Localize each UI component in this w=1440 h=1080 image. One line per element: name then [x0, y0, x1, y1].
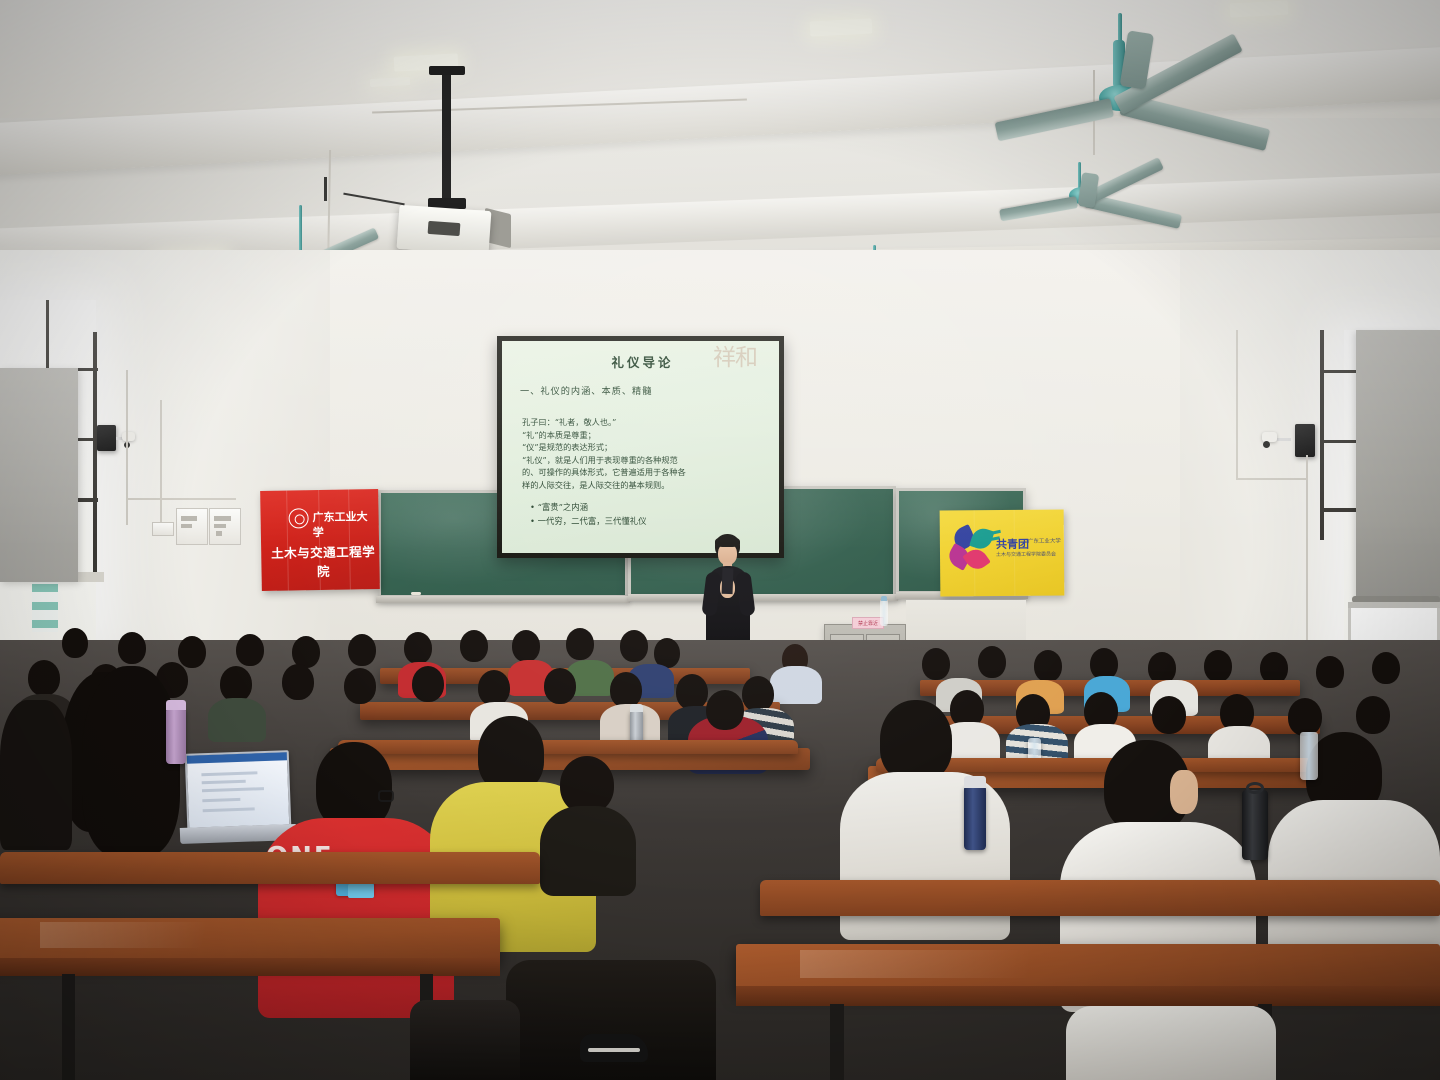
window-roller-blind[interactable]	[1356, 330, 1440, 602]
junction-box	[152, 522, 174, 536]
student-torso	[770, 666, 822, 704]
university-emblem	[288, 508, 308, 528]
student-head	[1356, 696, 1390, 734]
student-head	[742, 676, 774, 712]
student-foreground-white	[1066, 1006, 1276, 1080]
window-mullion	[93, 332, 97, 572]
wall-conduit	[160, 400, 162, 522]
student-head	[460, 630, 488, 662]
document-line	[202, 798, 240, 802]
slide-bullet: • 一代穷，二代富，三代懂礼仪	[530, 515, 767, 527]
slide-bullet: • “富贵”之内涵	[530, 501, 767, 513]
yellow-youth-league-banner: 共青团 广东工业大学 土木与交通工程学院委员会	[940, 509, 1065, 596]
laptop-title-bar	[187, 752, 287, 763]
bench-back	[338, 740, 798, 754]
security-camera-left	[122, 432, 135, 441]
student-head	[62, 628, 88, 658]
panel-switch[interactable]	[214, 524, 226, 528]
slide-bullet-text: 一代穷，二代富，三代懂礼仪	[538, 516, 647, 526]
projector-lens-panel	[428, 221, 461, 236]
wall-speaker-right	[1295, 424, 1315, 457]
banner-committee-name: 土木与交通工程学院委员会	[996, 551, 1062, 559]
desk-edge	[736, 986, 1440, 1006]
camera-mount-right	[1277, 438, 1291, 441]
student-head	[1204, 650, 1232, 682]
student-head	[282, 664, 314, 700]
student-head-foreground	[880, 700, 952, 782]
wall-conduit	[1236, 330, 1238, 480]
tshirt-patch-graphic	[348, 884, 374, 898]
student-head	[512, 630, 540, 662]
panel-switch[interactable]	[216, 531, 222, 536]
student-torso	[540, 806, 636, 896]
student-head	[118, 632, 146, 664]
student-head	[1152, 696, 1186, 734]
slide-body-line: “礼”的本质是尊重；	[522, 430, 767, 442]
projector-mount-plate	[429, 66, 465, 75]
slide-body-line: “礼仪”，就是人们用于表现尊重的各种规范	[522, 455, 767, 467]
student-foreground-dark	[506, 960, 716, 1080]
left-rolled-screen	[0, 368, 78, 582]
desk-leg	[62, 974, 75, 1080]
water-bottle-on-ledge[interactable]	[880, 600, 888, 626]
student-head	[544, 668, 576, 704]
lecturer-lapel	[722, 568, 734, 594]
student-torso	[208, 698, 266, 742]
desk-leg	[830, 1004, 844, 1080]
student-shoe-stripe	[588, 1048, 640, 1052]
panel-switch[interactable]	[214, 516, 231, 521]
warning-sign-text: 禁止靠近	[853, 618, 883, 630]
student-head	[922, 648, 950, 680]
chalk-tray	[376, 596, 630, 603]
projected-slide: 祥和 礼仪导论 一、礼仪的内涵、本质、精髓 孔子曰：“礼者，敬人也。” “礼”的…	[502, 341, 779, 553]
logo-leaf-red	[962, 545, 990, 574]
bench-back-near	[0, 852, 540, 884]
student-glasses	[378, 790, 394, 802]
document-line	[201, 771, 257, 776]
wall-conduit	[1306, 455, 1308, 655]
lecturer	[694, 534, 760, 652]
chalk-piece[interactable]	[411, 592, 421, 595]
slide-bullet-text: “富贵”之内涵	[538, 502, 588, 512]
wall-conduit	[1236, 478, 1306, 480]
chalk-tray	[628, 594, 898, 601]
lecturer-hair-front	[715, 536, 740, 547]
student-torso	[0, 700, 72, 850]
student-head	[1316, 656, 1344, 688]
banner-university-name: 广东工业大学	[312, 509, 375, 540]
banner-org-name: 共青团	[996, 536, 1030, 552]
panel-switch[interactable]	[181, 524, 192, 528]
thermos-cap	[964, 776, 986, 788]
classroom-photo: 祥和 礼仪导论 一、礼仪的内涵、本质、精髓 孔子曰：“礼者，敬人也。” “礼”的…	[0, 0, 1440, 1080]
student-head	[344, 668, 376, 704]
student-head	[236, 634, 264, 666]
banner-school-name: 土木与交通工程学院	[271, 541, 376, 581]
projection-screen: 祥和 礼仪导论 一、礼仪的内涵、本质、精髓 孔子曰：“礼者，敬人也。” “礼”的…	[497, 336, 784, 558]
projector-cable	[324, 177, 327, 201]
water-bottle[interactable]	[1300, 732, 1318, 780]
document-line	[202, 787, 264, 792]
student-head	[412, 666, 444, 702]
desk-reflection	[40, 922, 340, 948]
student-head	[348, 634, 376, 666]
student-head	[706, 690, 744, 730]
wall-conduit	[126, 370, 128, 525]
student-head	[178, 636, 206, 668]
document-line	[202, 780, 246, 785]
banner-university-name: 广东工业大学	[1028, 538, 1064, 545]
student-head	[566, 628, 594, 660]
student-head	[404, 632, 432, 664]
student-head	[478, 670, 510, 706]
panel-switch[interactable]	[181, 516, 197, 521]
student-head	[28, 660, 60, 696]
projector-mount-pole	[442, 72, 451, 202]
student-head	[220, 666, 252, 702]
student-head	[676, 674, 708, 710]
student-head	[1034, 650, 1062, 682]
slide-watermark-seal: 祥和	[713, 345, 775, 403]
student-head	[1288, 698, 1322, 736]
emblem-inner	[295, 514, 305, 524]
laptop-screen[interactable]	[185, 750, 292, 830]
slide-body-line: “仪”是规范的表达形式；	[522, 442, 767, 454]
thermos-black[interactable]	[1242, 790, 1268, 860]
bottle-cap	[881, 596, 887, 601]
student-head-foreground	[478, 716, 544, 792]
youth-league-logo	[949, 526, 995, 572]
camera-lens-right	[1263, 441, 1270, 448]
student-head	[610, 672, 642, 708]
red-department-banner: 广东工业大学 土木与交通工程学院	[260, 489, 380, 591]
student-head-foreground	[316, 742, 392, 830]
thermos-cap	[630, 704, 643, 712]
slide-body-line: 孔子曰：“礼者，敬人也。”	[522, 417, 767, 429]
student-head	[1372, 652, 1400, 684]
wall-speaker-left	[97, 425, 116, 451]
desk-reflection	[800, 950, 1220, 978]
thermos-handle	[1246, 782, 1264, 794]
slide-body-line: 的、可操作的具体形式，它普遍适用于各种各	[522, 467, 767, 479]
thermos-purple[interactable]	[166, 708, 186, 764]
document-line	[203, 807, 255, 812]
sliding-window-rail	[1348, 602, 1440, 608]
thermos-navy[interactable]	[964, 786, 986, 850]
wall-conduit	[126, 498, 236, 500]
student-foreground-dark	[410, 1000, 520, 1080]
student-face-profile	[1170, 770, 1198, 814]
bench-back-near	[760, 880, 1440, 916]
student-head	[620, 630, 648, 662]
slide-body-line: 样的人际交往，是人际交往的基本规则。	[522, 480, 767, 492]
student-head	[978, 646, 1006, 678]
thermos-cap	[166, 700, 186, 710]
